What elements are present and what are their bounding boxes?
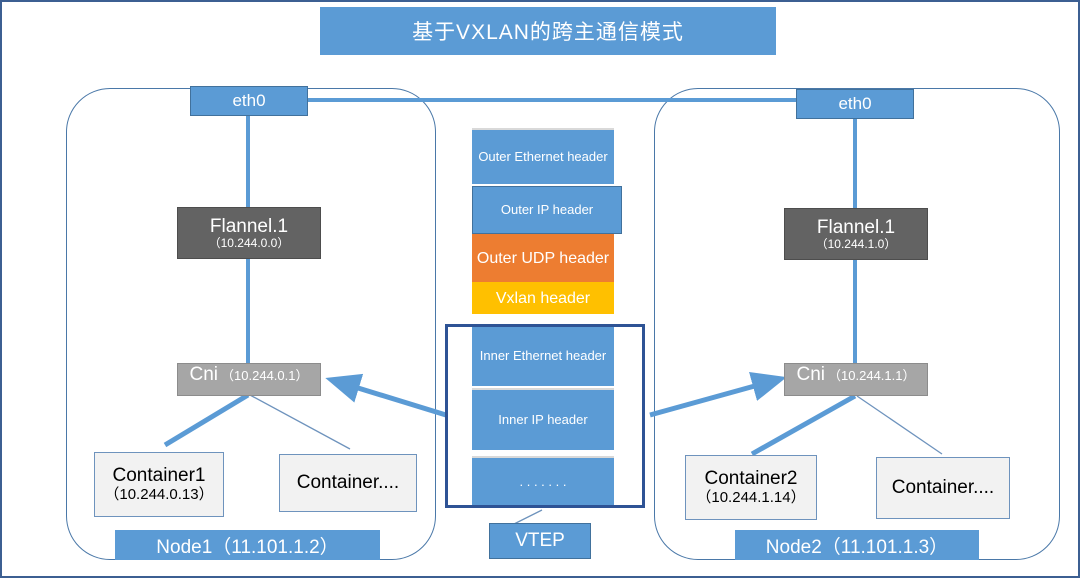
node1-flannel-name: Flannel.1 xyxy=(210,217,288,237)
node1-cni-ip: （10.244.0.1） xyxy=(221,365,308,384)
node1-flannel-ip: （10.244.0.0） xyxy=(209,237,290,250)
node2-flannel-ip: （10.244.1.0） xyxy=(816,238,897,251)
node1-container-more-box[interactable]: Container.... xyxy=(279,454,417,512)
node1-container1-name: Container1 xyxy=(113,465,206,486)
node1-eth0-flannel-link xyxy=(246,114,250,208)
node1-label: Node1（11.101.1.2） xyxy=(115,530,380,560)
node1-container1-box[interactable]: Container1 （10.244.0.13） xyxy=(94,452,224,517)
node2-label: Node2（11.101.1.3） xyxy=(735,530,979,560)
packet-layer-outer-ip: Outer IP header xyxy=(472,186,622,234)
packet-layer-vxlan: Vxlan header xyxy=(472,282,614,314)
node1-flannel-cni-link xyxy=(246,258,250,364)
node2-flannel-cni-link xyxy=(853,259,857,364)
packet-layer-outer-udp: Outer UDP header xyxy=(472,234,614,282)
node1-container-more-name: Container.... xyxy=(297,472,399,493)
packet-layer-outer-ethernet: Outer Ethernet header xyxy=(472,128,614,184)
node1-flannel-box[interactable]: Flannel.1 （10.244.0.0） xyxy=(177,207,321,259)
node2-cni-name: Cni xyxy=(797,364,826,386)
page-title: 基于VXLAN的跨主通信模式 xyxy=(320,7,776,55)
node2-cni-box[interactable]: Cni （10.244.1.1） xyxy=(784,363,928,396)
node2-container2-ip: （10.244.1.14） xyxy=(696,490,805,507)
node1-eth0-box[interactable]: eth0 xyxy=(190,86,308,116)
vtep-label-box: VTEP xyxy=(489,523,591,559)
node2-container-more-box[interactable]: Container.... xyxy=(876,457,1010,519)
diagram-canvas: 基于VXLAN的跨主通信模式 eth0 Fla xyxy=(0,0,1080,578)
inner-packet-frame xyxy=(445,324,645,508)
node2-container2-box[interactable]: Container2 （10.244.1.14） xyxy=(685,455,817,520)
node2-flannel-box[interactable]: Flannel.1 （10.244.1.0） xyxy=(784,208,928,260)
node2-container-more-name: Container.... xyxy=(892,477,994,498)
node2-flannel-name: Flannel.1 xyxy=(817,218,895,238)
node2-eth0-box[interactable]: eth0 xyxy=(796,89,914,119)
node1-cni-name: Cni xyxy=(190,364,219,386)
node1-container1-ip: （10.244.0.13） xyxy=(104,487,213,504)
node2-cni-ip: （10.244.1.1） xyxy=(828,365,915,384)
eth0-interconnect-line xyxy=(292,98,812,102)
node2-container2-name: Container2 xyxy=(705,468,798,489)
node2-eth0-flannel-link xyxy=(853,117,857,209)
node1-cni-box[interactable]: Cni （10.244.0.1） xyxy=(177,363,321,396)
